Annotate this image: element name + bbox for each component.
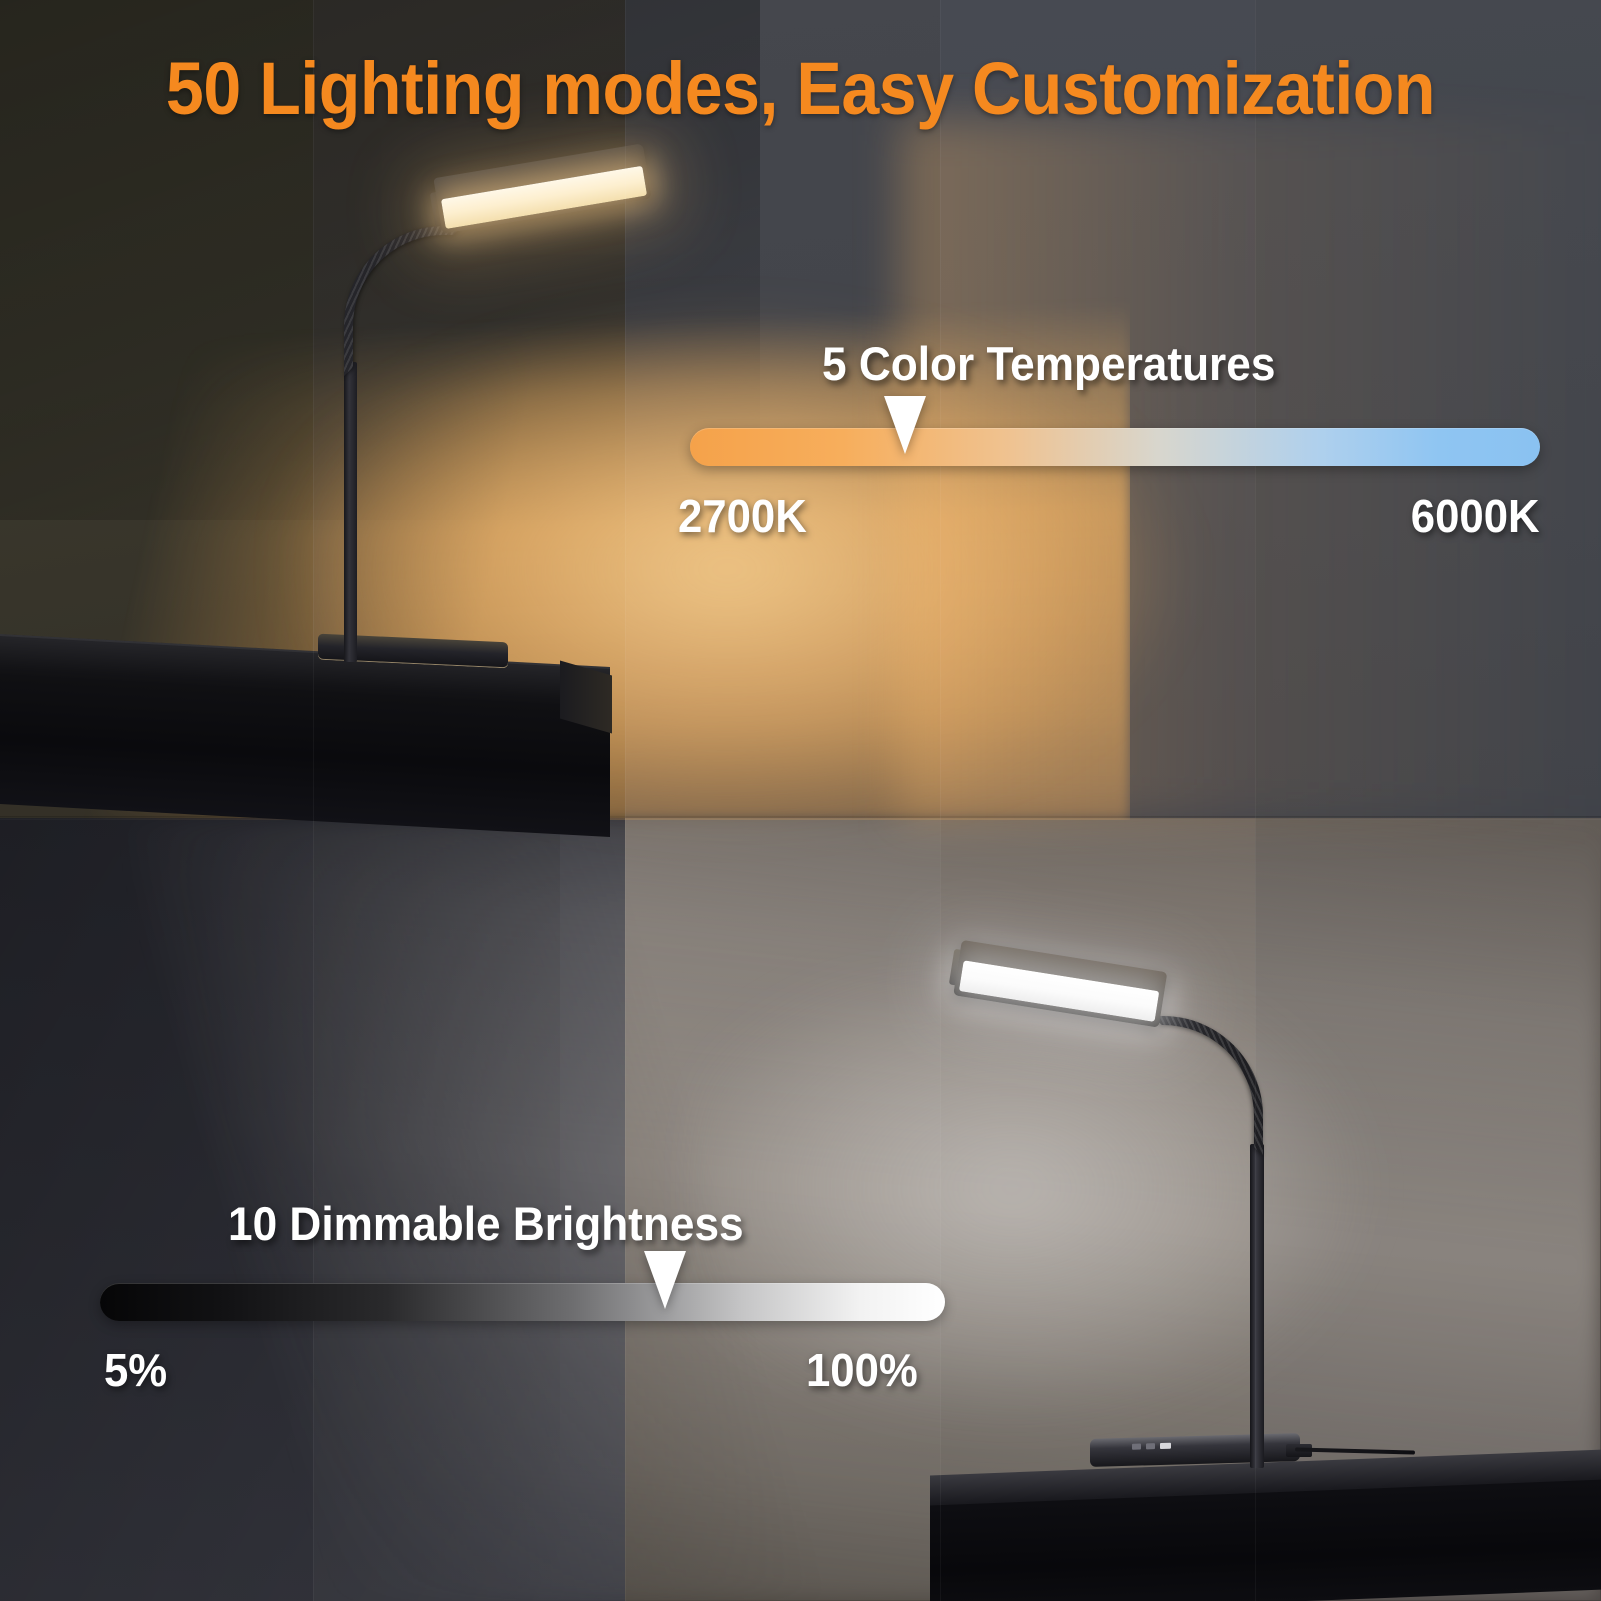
brightness-title: 10 Dimmable Brightness [228,1196,744,1251]
brightness-max-label: 100% [806,1343,918,1397]
brightness-section: 10 Dimmable Brightness 5% 100% [0,0,1601,1601]
brightness-slider-marker[interactable] [644,1251,686,1309]
brightness-min-label: 5% [104,1343,167,1397]
product-feature-image: 50 Lighting modes, Easy Customization 5 … [0,0,1601,1601]
brightness-slider-track[interactable] [100,1283,945,1321]
